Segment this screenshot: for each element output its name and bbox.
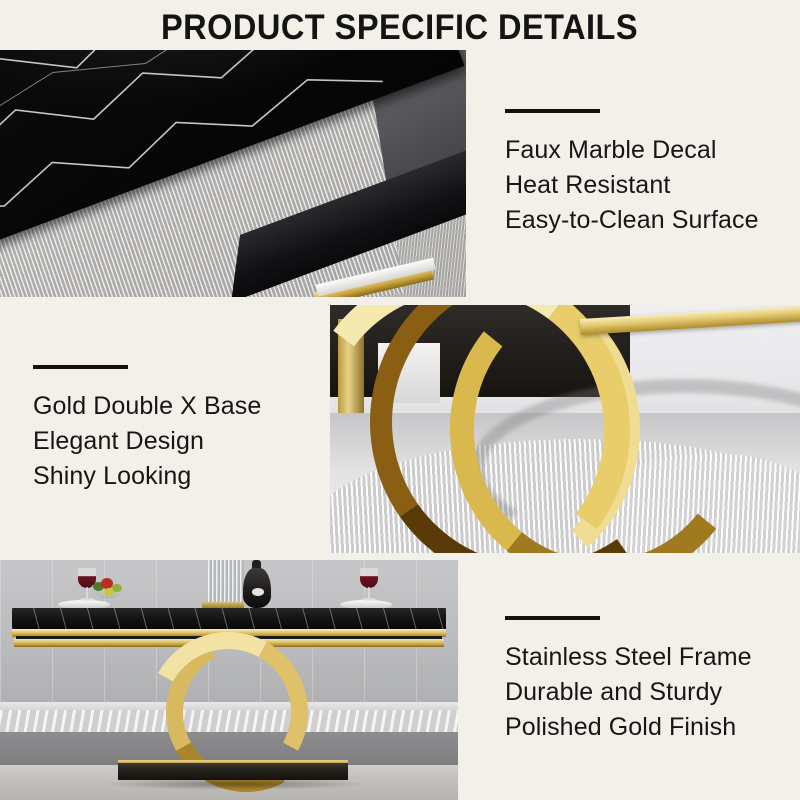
accent-rule — [505, 616, 600, 620]
wine-glass-right-foot — [361, 598, 377, 601]
x-base-leg-bright — [330, 305, 651, 553]
wine-glass-left-foot — [79, 598, 95, 601]
feature-line: Easy-to-Clean Surface — [505, 203, 800, 238]
feature-image-gold-x-base — [330, 305, 800, 553]
glassware-set — [208, 560, 244, 606]
feature-line: Shiny Looking — [33, 459, 330, 494]
feature-row-steel-frame: Stainless Steel Frame Durable and Sturdy… — [0, 560, 800, 800]
feature-text-gold-x-base: Gold Double X Base Elegant Design Shiny … — [0, 305, 330, 553]
feature-line: Elegant Design — [33, 424, 330, 459]
product-details-infographic: PRODUCT SPECIFIC DETAILS — [0, 0, 800, 800]
feature-image-marble-top — [0, 50, 466, 297]
feature-image-console-table — [0, 560, 458, 800]
accent-rule — [505, 109, 600, 113]
feature-line: Durable and Sturdy — [505, 675, 800, 710]
feature-line: Faux Marble Decal — [505, 133, 800, 168]
feature-text-marble-top: Faux Marble Decal Heat Resistant Easy-to… — [466, 50, 800, 297]
feature-line: Gold Double X Base — [33, 389, 330, 424]
feature-line: Polished Gold Finish — [505, 710, 800, 745]
accent-rule — [33, 365, 128, 369]
marble-tabletop — [12, 608, 446, 630]
feature-line: Stainless Steel Frame — [505, 640, 800, 675]
feature-row-gold-x-base: Gold Double X Base Elegant Design Shiny … — [0, 305, 800, 553]
feature-text-steel-frame: Stainless Steel Frame Durable and Sturdy… — [458, 560, 800, 800]
decanter-label — [252, 588, 264, 596]
wine-glass-right — [360, 568, 378, 588]
feature-line: Heat Resistant — [505, 168, 800, 203]
feature-row-marble-top: Faux Marble Decal Heat Resistant Easy-to… — [0, 50, 800, 297]
page-title-bar: PRODUCT SPECIFIC DETAILS — [0, 6, 800, 50]
fruit-lemon — [104, 588, 114, 596]
page-title: PRODUCT SPECIFIC DETAILS — [161, 8, 638, 48]
floor-shadow — [100, 778, 370, 790]
